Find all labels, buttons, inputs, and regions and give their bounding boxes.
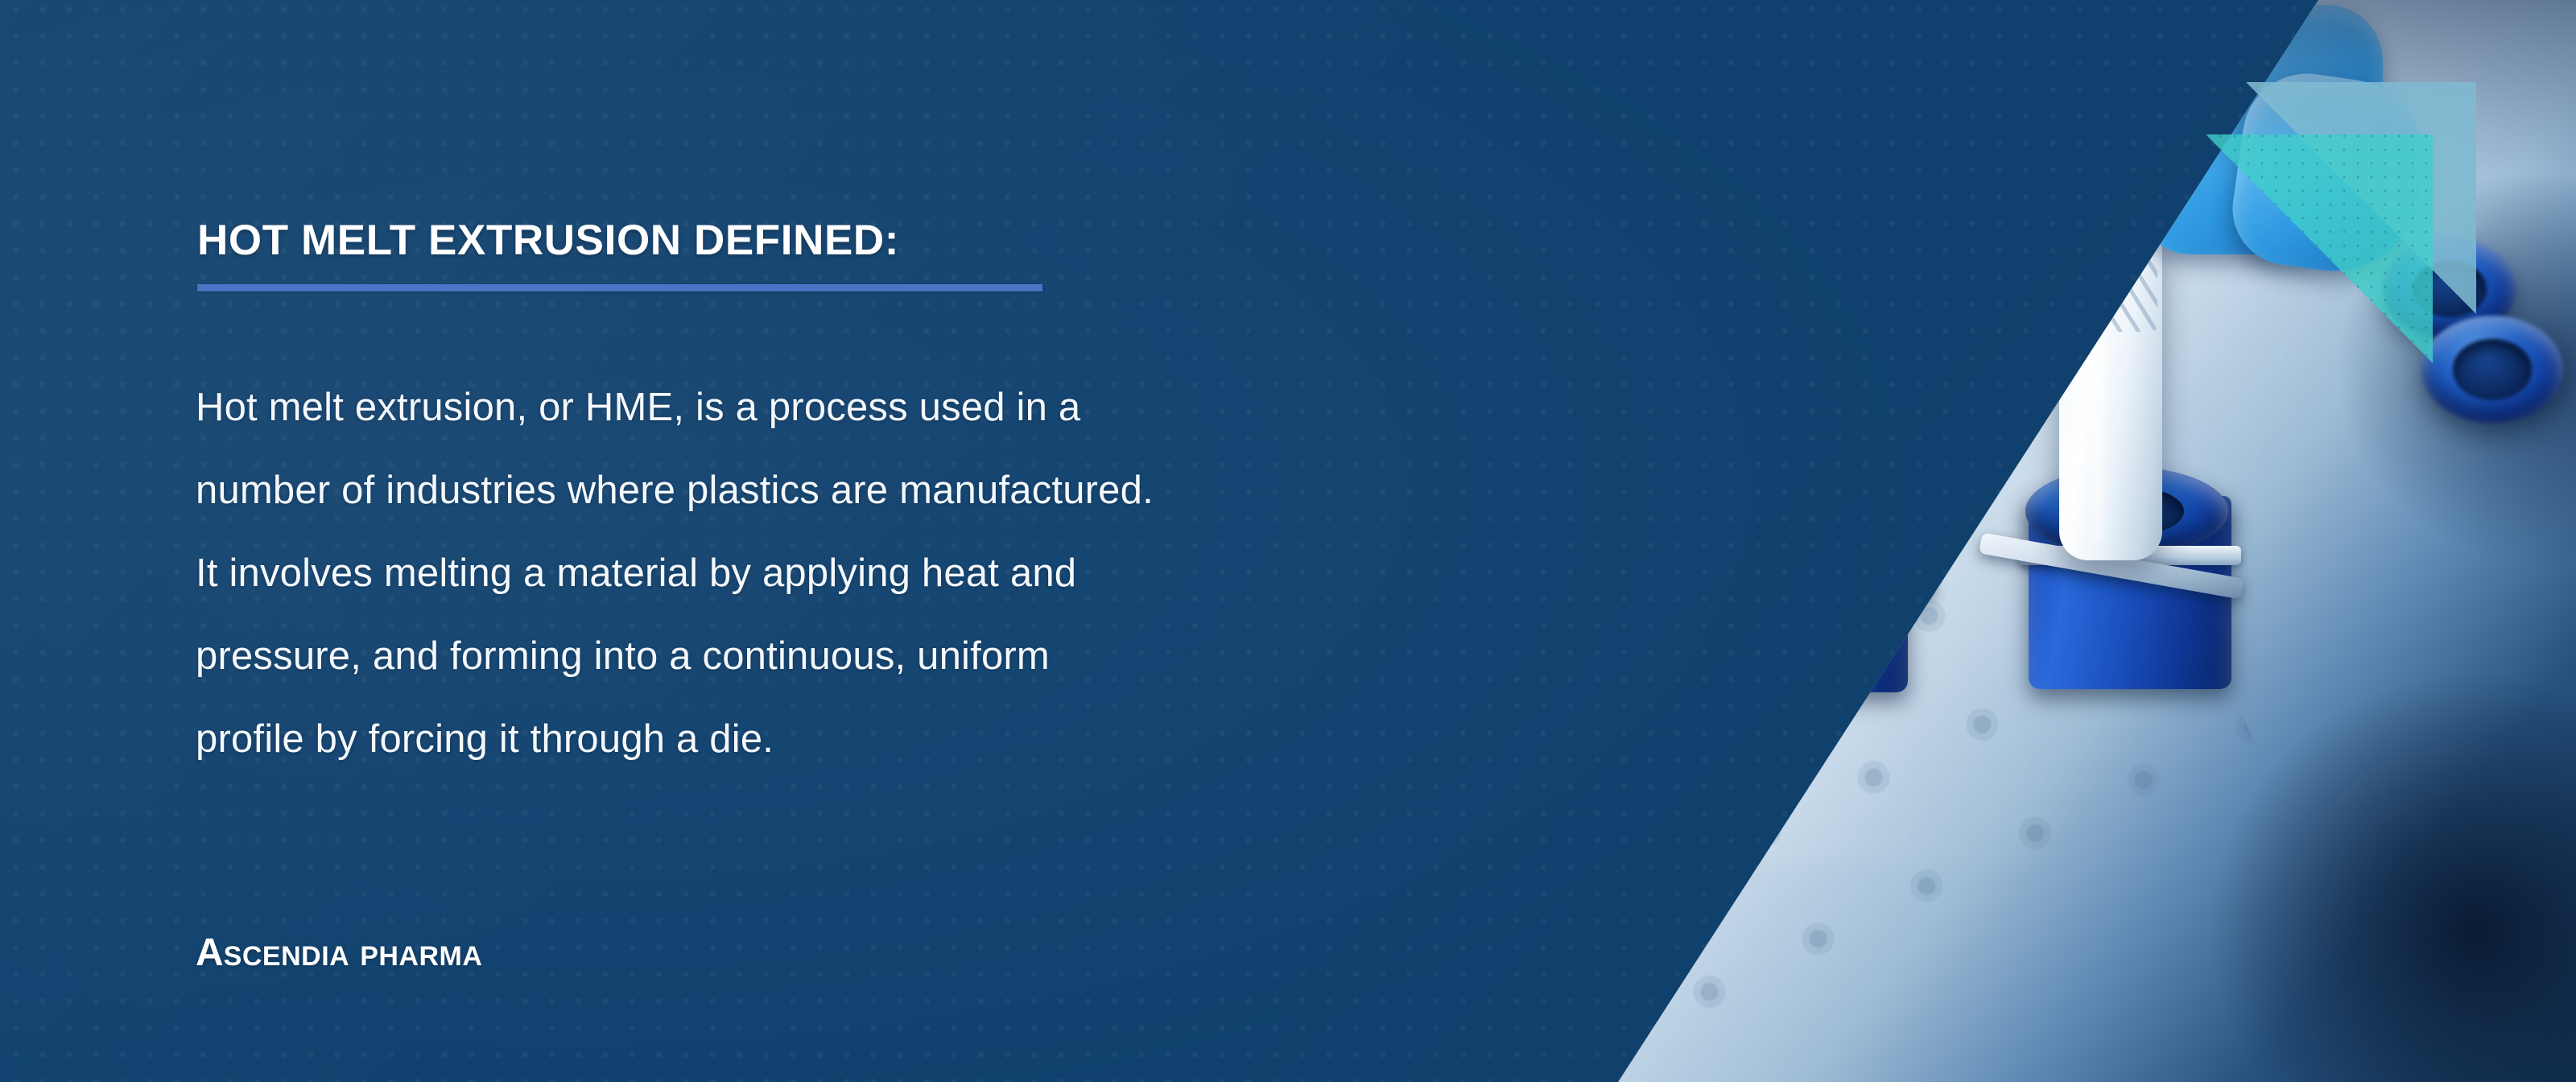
body-line: number of industries where plastics are … [196,449,1806,532]
title-underline-rule [197,284,1042,291]
hero-banner: HOT MELT EXTRUSION DEFINED: Hot melt ext… [0,0,2576,1082]
body-line: It involves melting a material by applyi… [196,532,1806,615]
body-paragraph: Hot melt extrusion, or HME, is a process… [196,366,1806,781]
banner-content: HOT MELT EXTRUSION DEFINED: Hot melt ext… [0,0,2576,1082]
page-title: HOT MELT EXTRUSION DEFINED: [197,216,899,265]
brand-logo: ASCENDIAPHARMA [196,931,482,975]
brand-logo-lead-letter: A [196,931,224,974]
body-line: profile by forcing it through a die. [196,698,1806,781]
body-line: Hot melt extrusion, or HME, is a process… [196,366,1806,449]
body-line: pressure, and forming into a continuous,… [196,615,1806,698]
brand-logo-first-word: SCENDIA [224,941,350,972]
brand-logo-second-word: PHARMA [360,941,482,972]
